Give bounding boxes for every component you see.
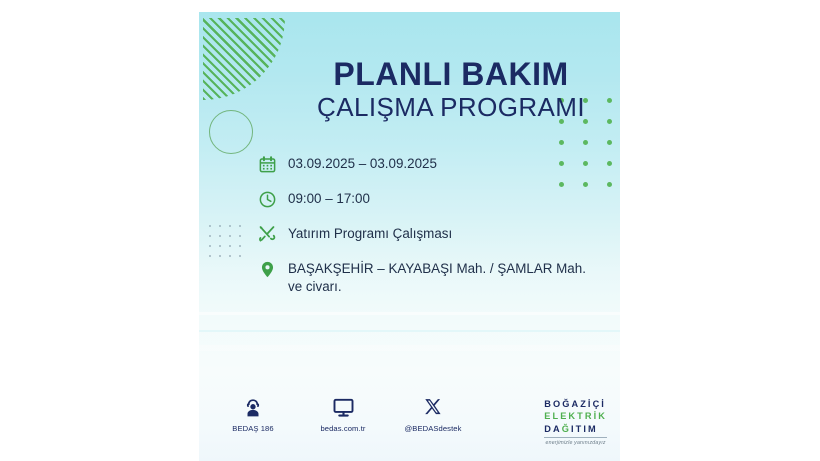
background-band (199, 330, 620, 332)
tools-icon (255, 223, 279, 245)
info-row-date: 03.09.2025 – 03.09.2025 (255, 153, 605, 175)
decoration-dot (229, 235, 231, 237)
decoration-dot (607, 140, 612, 145)
location-pin-icon (255, 258, 279, 280)
dot-grid-left-decoration (209, 225, 249, 265)
contact-website-label: bedas.com.tr (307, 424, 379, 433)
brand-line-1: BOĞAZİÇİ (544, 398, 607, 410)
decoration-dot (219, 255, 221, 257)
decoration-dot (239, 235, 241, 237)
contact-twitter-label: @BEDASdestek (397, 424, 469, 433)
background-band (199, 345, 620, 351)
contact-phone-label: BEDAŞ 186 (217, 424, 289, 433)
poster-screenshot: PLANLI BAKIM ÇALIŞMA PROGRAMI (0, 0, 820, 461)
contact-website[interactable]: bedas.com.tr (307, 394, 379, 433)
circle-outline-decoration (209, 110, 253, 154)
decoration-dot (559, 140, 564, 145)
contact-list: BEDAŞ 186 bedas.com.tr (217, 394, 469, 433)
brand-slogan: enerjimizle yanınızdayız (544, 437, 607, 446)
decoration-dot (209, 255, 211, 257)
monitor-icon (307, 394, 379, 421)
decoration-dot (239, 245, 241, 247)
x-twitter-icon (397, 394, 469, 421)
decoration-dot (229, 225, 231, 227)
decoration-dot (239, 255, 241, 257)
info-row-location: BAŞAKŞEHİR – KAYABAŞI Mah. / ŞAMLAR Mah.… (255, 258, 605, 296)
decoration-dot (583, 140, 588, 145)
decoration-dot (219, 225, 221, 227)
diagonal-stripes-decoration (203, 18, 285, 100)
decoration-dot (607, 182, 612, 187)
decoration-dot (229, 245, 231, 247)
brand-line-3-a: DA (544, 424, 561, 434)
calendar-icon (255, 153, 279, 175)
info-row-time-text: 09:00 – 17:00 (288, 188, 370, 208)
decoration-dot (209, 245, 211, 247)
brand-line-3-b: ITIM (571, 424, 598, 434)
decoration-dot (229, 255, 231, 257)
background-band (199, 312, 620, 315)
call-center-agent-icon (217, 394, 289, 421)
brand-line-2: ELEKTRİK (544, 410, 607, 422)
decoration-dot (209, 235, 211, 237)
info-row-worktype: Yatırım Programı Çalışması (255, 223, 605, 245)
page-title: PLANLI BAKIM ÇALIŞMA PROGRAMI (291, 58, 611, 122)
decoration-dot (209, 225, 211, 227)
title-subtitle: ÇALIŞMA PROGRAMI (291, 93, 611, 122)
title-main: PLANLI BAKIM (291, 58, 611, 91)
brand-line-3-g: Ğ (562, 424, 571, 434)
clock-icon (255, 188, 279, 210)
info-row-worktype-text: Yatırım Programı Çalışması (288, 223, 452, 243)
decoration-dot (607, 161, 612, 166)
decoration-dot (219, 245, 221, 247)
info-row-date-text: 03.09.2025 – 03.09.2025 (288, 153, 437, 173)
footer: BEDAŞ 186 bedas.com.tr (199, 394, 620, 461)
brand-line-3: DAĞITIM (544, 423, 607, 435)
maintenance-announcement-card: PLANLI BAKIM ÇALIŞMA PROGRAMI (199, 12, 620, 461)
info-list: 03.09.2025 – 03.09.2025 09:00 – 17:00 (255, 153, 605, 296)
info-row-time: 09:00 – 17:00 (255, 188, 605, 210)
decoration-dot (219, 235, 221, 237)
bedas-logo: BOĞAZİÇİ ELEKTRİK DAĞITIM enerjimizle ya… (544, 398, 607, 446)
contact-phone[interactable]: BEDAŞ 186 (217, 394, 289, 433)
contact-twitter[interactable]: @BEDASdestek (397, 394, 469, 433)
decoration-dot (239, 225, 241, 227)
info-row-location-text: BAŞAKŞEHİR – KAYABAŞI Mah. / ŞAMLAR Mah.… (288, 258, 588, 296)
